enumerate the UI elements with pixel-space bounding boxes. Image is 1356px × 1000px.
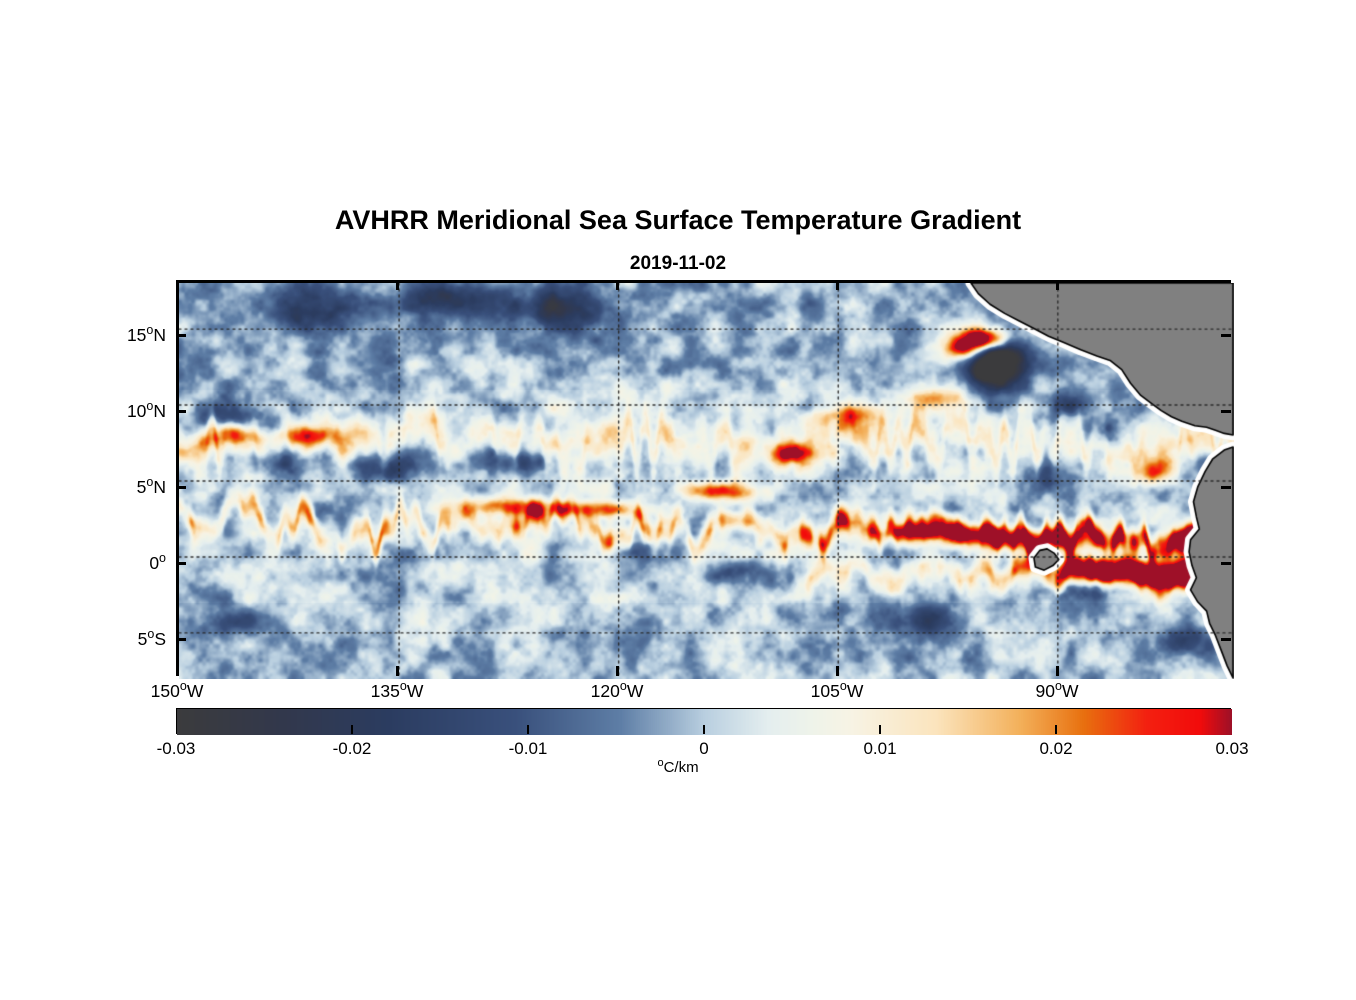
- colorbar-label--0.01: -0.01: [468, 739, 588, 759]
- colorbar-tick-0.01: [879, 725, 881, 734]
- xtick-mark-bot-135W: [396, 666, 399, 676]
- xtick-mark-105W: [836, 280, 839, 290]
- colorbar-label-0.02: 0.02: [996, 739, 1116, 759]
- ytick-mark-15N: [176, 334, 186, 337]
- xtick-mark-bot-90W: [1056, 666, 1059, 676]
- ytick-mark-10N: [176, 410, 186, 413]
- ytick-mark-right-15N: [1221, 334, 1231, 337]
- colorbar-tick-0: [703, 725, 705, 734]
- xtick-mark-90W: [1056, 280, 1059, 290]
- colorbar-tick--0.02: [351, 725, 353, 734]
- xtick-label-135W: 135oW: [327, 681, 467, 702]
- colorbar-tick-0.02: [1055, 725, 1057, 734]
- figure-root: AVHRR Meridional Sea Surface Temperature…: [0, 0, 1356, 1000]
- map-axes: [176, 280, 1231, 676]
- colorbar-label-0: 0: [644, 739, 764, 759]
- colorbar-tick--0.01: [527, 725, 529, 734]
- ytick-mark-right-5N: [1221, 486, 1231, 489]
- xtick-label-120W: 120oW: [547, 681, 687, 702]
- xtick-mark-bot-105W: [836, 666, 839, 676]
- xtick-label-105W: 105oW: [767, 681, 907, 702]
- ytick-mark-5S: [176, 638, 186, 641]
- xtick-label-90W: 90oW: [987, 681, 1127, 702]
- ytick-label-0: 0o: [46, 553, 166, 574]
- figure-subtitle: 2019-11-02: [0, 253, 1356, 275]
- ytick-mark-0: [176, 562, 186, 565]
- ytick-label-5S: 5oS: [46, 629, 166, 650]
- ytick-label-10N: 10oN: [46, 401, 166, 422]
- colorbar-label-0.03: 0.03: [1172, 739, 1292, 759]
- colorbar-label-0.01: 0.01: [820, 739, 940, 759]
- ytick-mark-right-0: [1221, 562, 1231, 565]
- xtick-mark-135W: [396, 280, 399, 290]
- sst-gradient-heatmap: [179, 283, 1234, 679]
- colorbar-units-label: oC/km: [0, 759, 1356, 776]
- ytick-label-15N: 15oN: [46, 325, 166, 346]
- xtick-label-150W: 150oW: [107, 681, 247, 702]
- colorbar-label--0.03: -0.03: [116, 739, 236, 759]
- ytick-mark-5N: [176, 486, 186, 489]
- xtick-mark-bot-120W: [616, 666, 619, 676]
- ytick-mark-right-10N: [1221, 410, 1231, 413]
- ytick-mark-right-5S: [1221, 638, 1231, 641]
- xtick-mark-150W: [176, 280, 179, 290]
- figure-title: AVHRR Meridional Sea Surface Temperature…: [0, 205, 1356, 236]
- xtick-mark-bot-150W: [176, 666, 179, 676]
- ytick-label-5N: 5oN: [46, 477, 166, 498]
- colorbar-gradient: [177, 709, 1232, 735]
- colorbar-label--0.02: -0.02: [292, 739, 412, 759]
- xtick-mark-120W: [616, 280, 619, 290]
